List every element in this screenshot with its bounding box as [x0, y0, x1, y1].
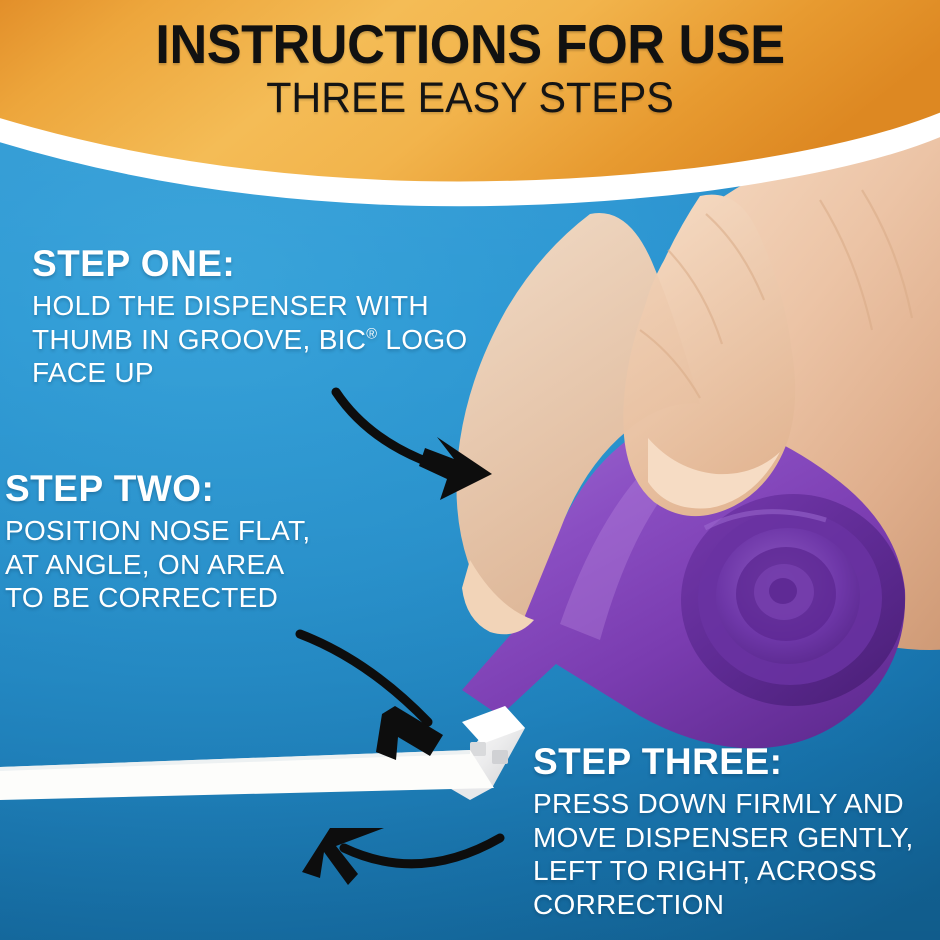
step-one-heading: STEP ONE:: [32, 245, 468, 282]
step-three-heading: STEP THREE:: [533, 743, 914, 780]
step-two-block: STEP TWO: POSITION NOSE FLAT, AT ANGLE, …: [5, 470, 310, 615]
step-three-line-3: LEFT TO RIGHT, ACROSS: [533, 854, 914, 888]
step-one-block: STEP ONE: HOLD THE DISPENSER WITH THUMB …: [32, 245, 468, 390]
step-one-body: HOLD THE DISPENSER WITH THUMB IN GROOVE,…: [32, 289, 468, 390]
brand-label: BIC: [319, 324, 367, 355]
step-one-line-3: FACE UP: [32, 356, 468, 390]
step-two-line-3: TO BE CORRECTED: [5, 581, 310, 615]
arrow-tape-direction: [344, 838, 500, 864]
step-three-line-1: PRESS DOWN FIRMLY AND: [533, 787, 914, 821]
step-two-line-1: POSITION NOSE FLAT,: [5, 514, 310, 548]
step-one-line-1: HOLD THE DISPENSER WITH: [32, 289, 468, 323]
step-one-line-2: THUMB IN GROOVE, BIC® LOGO: [32, 323, 468, 357]
infographic-canvas: INSTRUCTIONS FOR USE THREE EASY STEPS ST…: [0, 0, 940, 940]
step-three-line-4: CORRECTION: [533, 888, 914, 922]
step-two-line-2: AT ANGLE, ON AREA: [5, 548, 310, 582]
arrow-to-nose-tip: [300, 634, 428, 722]
step-two-body: POSITION NOSE FLAT, AT ANGLE, ON AREA TO…: [5, 514, 310, 615]
registered-trademark-icon: ®: [366, 326, 377, 342]
step-three-block: STEP THREE: PRESS DOWN FIRMLY AND MOVE D…: [533, 743, 914, 921]
arrow-heads: [302, 437, 492, 885]
step-three-body: PRESS DOWN FIRMLY AND MOVE DISPENSER GEN…: [533, 787, 914, 921]
step-three-line-2: MOVE DISPENSER GENTLY,: [533, 821, 914, 855]
step-two-heading: STEP TWO:: [5, 470, 310, 507]
